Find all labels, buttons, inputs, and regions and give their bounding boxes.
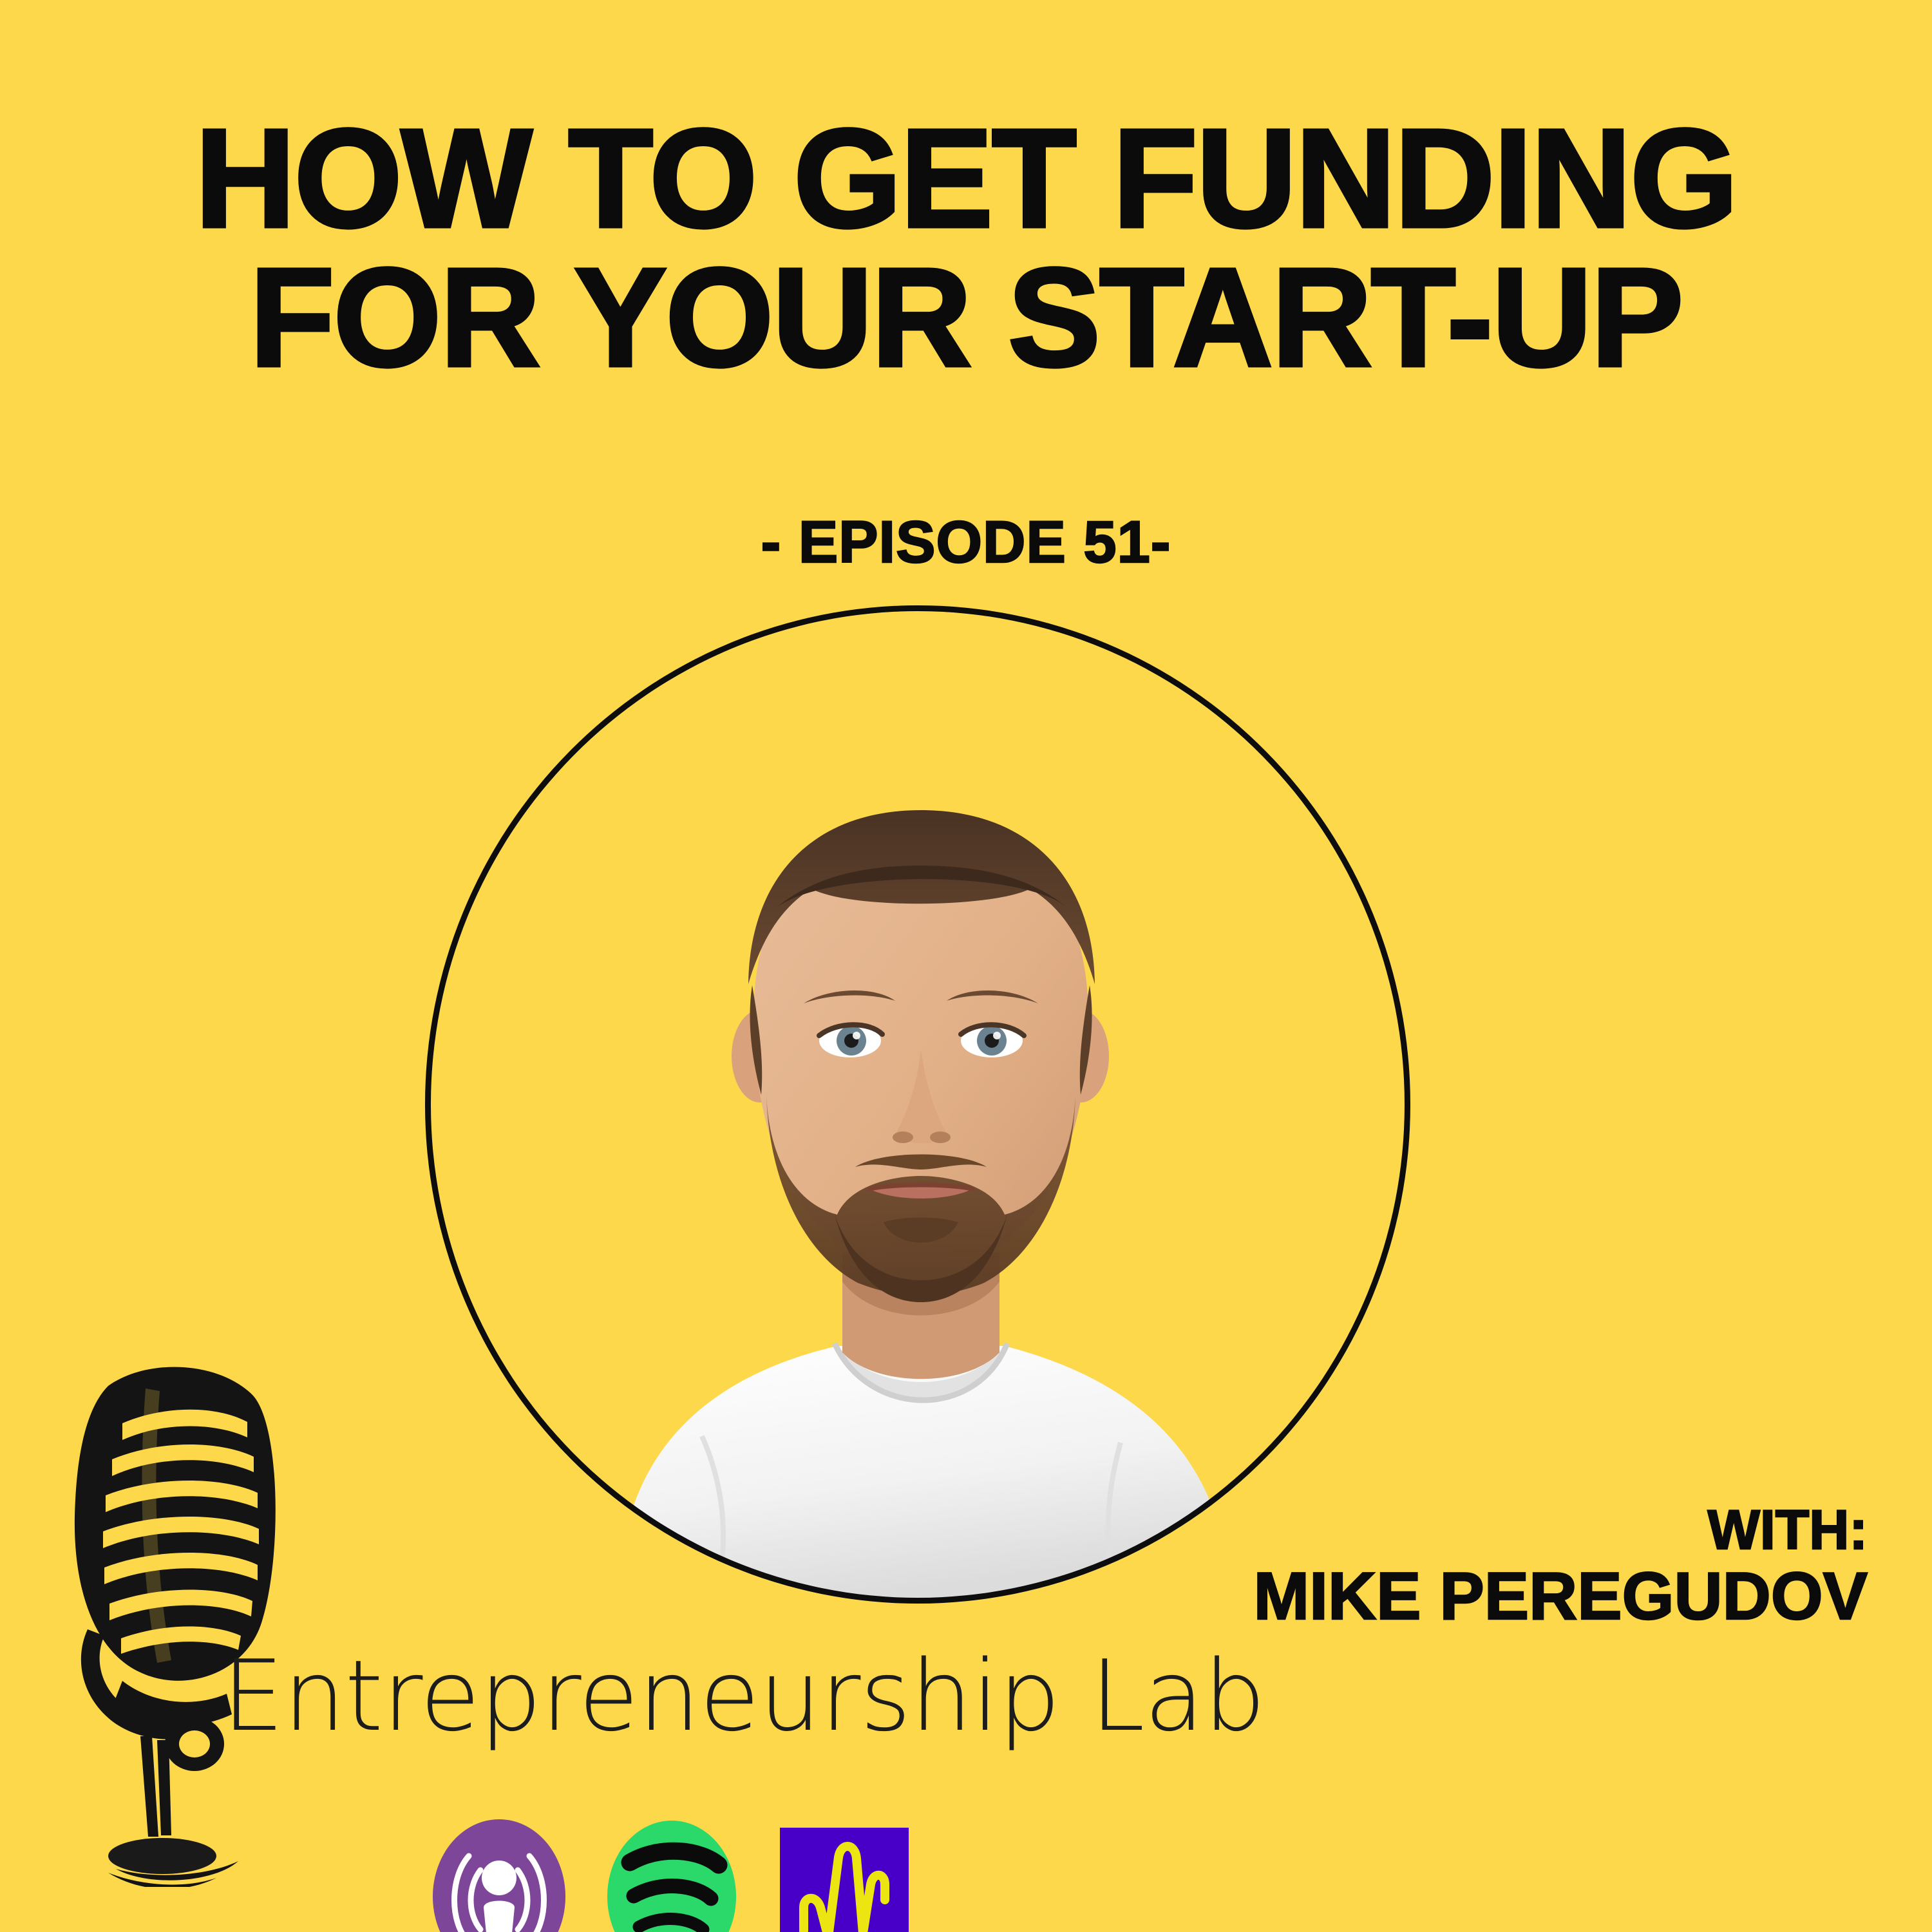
guest-credit: WITH: MIKE PEREGUDOV <box>1254 1501 1868 1633</box>
spotify-icon[interactable] <box>604 1816 739 1932</box>
guest-name: MIKE PEREGUDOV <box>1254 1560 1868 1633</box>
portrait-image <box>425 605 1410 1604</box>
podcast-cover: HOW TO GET FUNDING FOR YOUR START-UP - E… <box>0 0 1932 1932</box>
with-label: WITH: <box>1254 1501 1868 1560</box>
platform-badges <box>431 1816 912 1932</box>
anchor-icon[interactable] <box>777 1816 912 1932</box>
brand-name: Entrepreneurship Lab <box>222 1639 1265 1753</box>
apple-podcasts-icon[interactable] <box>431 1816 567 1932</box>
guest-portrait <box>425 605 1410 1604</box>
page-title: HOW TO GET FUNDING FOR YOUR START-UP <box>10 109 1922 388</box>
episode-label: - EPISODE 51- <box>0 509 1932 576</box>
vintage-microphone-icon <box>26 1346 296 1887</box>
portrait-clip <box>425 605 1410 1604</box>
